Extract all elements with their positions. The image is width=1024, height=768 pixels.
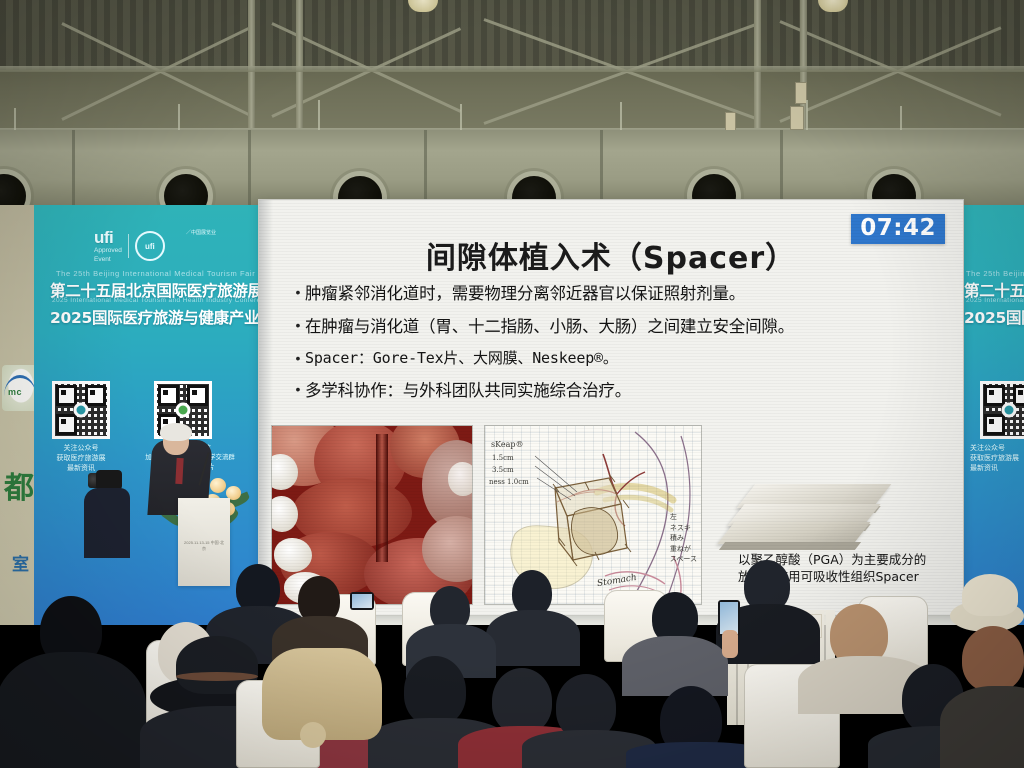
electrical-box (790, 106, 804, 130)
sketch-japanese-annotation: 左ネスキ積み重ねがスペース (670, 512, 697, 565)
qr-finder-icon (56, 414, 77, 435)
presenter-tie (175, 458, 183, 484)
ufi-logo-subtext-1: Approved (94, 247, 122, 254)
spacer-sheet (717, 522, 870, 544)
qr-finder-icon (158, 385, 179, 406)
qr-finder-icon (56, 385, 77, 406)
spacer-sheet-edge (719, 542, 861, 550)
bullet-marker-icon: • (291, 282, 305, 302)
podium: 2025.11.13-15 中国·北京 (178, 498, 230, 586)
sketch-label-dimension-1: 1.5cm (492, 454, 514, 462)
slide-figure-row: sKeap® 1.5cm 3.5cm ness 1.0cm 左ネスキ積み重ねがス… (272, 426, 950, 604)
bullet-text: 多学科协作：与外科团队共同实施综合治疗。 (305, 379, 631, 403)
qr-code-official-account[interactable] (52, 381, 110, 439)
attendee-hand (722, 630, 738, 658)
bullet-text: Spacer：Gore-Tex片、大网膜、Neskeep®。 (305, 348, 618, 370)
bullet-text: 在肿瘤与消化道（胃、十二指肠、小肠、大肠）之间建立安全间隙。 (305, 315, 794, 339)
association-seal-icon: ufi (135, 231, 165, 261)
left-banner-char-small: 室 (12, 550, 29, 575)
audience-head (404, 656, 466, 726)
slide-bullet-item: • 多学科协作：与外科团队共同实施综合治疗。 (291, 379, 935, 403)
ceiling-beam (0, 66, 1024, 72)
audience-shoulders (940, 686, 1024, 768)
seal-caption: ／中国展览业 (186, 229, 216, 236)
slide-title: 间隙体植入术（Spacer） (259, 233, 963, 277)
bullet-marker-icon: • (291, 379, 305, 399)
flower-bloom (210, 478, 226, 493)
video-camera (96, 470, 122, 490)
bullet-marker-icon: • (291, 348, 305, 368)
sketch-label-thickness: ness 1.0cm (489, 478, 529, 486)
qr-left-caption-line-1: 关注公众号 (38, 443, 124, 453)
qr-code-official-account[interactable] (980, 381, 1024, 439)
qr-finder-icon (984, 385, 1005, 406)
qr-center-logo-icon (176, 403, 191, 418)
conference-banner-right: The 25th Beijing International Medical T… (962, 205, 1024, 625)
slide-bullet-list: • 肿瘤紧邻消化道时，需要物理分离邻近器官以保证照射剂量。 • 在肿瘤与消化道（… (291, 282, 935, 412)
conference-photo: mc 都 室 ufi Approved Event ufi ／中国展览业 The… (0, 0, 1024, 768)
banner-english-line-2: 2025 International Medical Tourism and H… (52, 297, 248, 304)
coat-pompom (300, 722, 326, 748)
audience-shoulders (486, 610, 580, 666)
audience-hat (962, 574, 1018, 616)
banner-english-line-1: The 25th Beijing International Medical T… (56, 269, 246, 278)
ceiling-structure (0, 0, 1024, 212)
qr-finder-icon (984, 414, 1005, 435)
qr-center-logo-icon (74, 403, 89, 418)
sketch-label-dimension-2: 3.5cm (492, 466, 514, 474)
qr-left-caption: 关注公众号 获取医疗旅游展 最新资讯 (38, 443, 124, 473)
banner-english-line-1: The 25th Beijing International Medical T… (966, 269, 1024, 278)
ufi-logo-text: ufi (94, 229, 122, 246)
audience-shoulders (622, 636, 728, 696)
audience-head (962, 626, 1024, 692)
qr-left-caption-line-2: 获取医疗旅游展 (38, 453, 124, 463)
electrical-box (725, 112, 736, 131)
audience-head (492, 668, 552, 734)
gauze-swab (274, 538, 312, 572)
camera-operator (84, 488, 130, 558)
slide-bullet-item: • 在肿瘤与消化道（胃、十二指肠、小肠、大肠）之间建立安全间隙。 (291, 315, 935, 339)
qr-finder-icon (85, 385, 106, 406)
qr-left-caption-line-2: 获取医疗旅游展 (970, 453, 1024, 463)
gauze-swab (448, 462, 472, 496)
qr-left-caption: 关注公众号 获取医疗旅游展 最新资讯 (970, 443, 1024, 473)
bullet-text: 肿瘤紧邻消化道时，需要物理分离邻近器官以保证照射剂量。 (305, 282, 745, 306)
banner-english-line-2: 2025 International Medical Tourism and H… (966, 297, 1024, 304)
presentation-screen: 07:42 间隙体植入术（Spacer） • 肿瘤紧邻消化道时，需要物理分离邻近… (259, 200, 963, 615)
podium-label: 2025.11.13-15 中国·北京 (184, 540, 224, 552)
slide-bullet-item: • Spacer：Gore-Tex片、大网膜、Neskeep®。 (291, 348, 935, 370)
qr-left-caption-line-1: 关注公众号 (970, 443, 1024, 453)
bullet-marker-icon: • (291, 315, 305, 335)
exhibitor-logo-text: mc (8, 387, 22, 397)
slide-bullet-item: • 肿瘤紧邻消化道时，需要物理分离邻近器官以保证照射剂量。 (291, 282, 935, 306)
surgical-cleft (376, 434, 388, 562)
qr-center-logo-icon (1002, 403, 1017, 418)
qr-finder-icon (1013, 385, 1024, 406)
audience-shoulders (0, 652, 146, 768)
qr-finder-icon (187, 385, 208, 406)
qr-left-caption-line-3: 最新资讯 (970, 463, 1024, 473)
sketch-label-product: sKeap® (491, 440, 524, 449)
banner-chinese-line-2: 2025国际医疗旅游与健康产业大会 (50, 306, 250, 328)
intraoperative-surgical-photo (272, 426, 472, 604)
presenter-hair (160, 423, 192, 441)
attendee-phone[interactable] (350, 592, 374, 610)
logo-divider (128, 234, 129, 258)
left-banner-char-large: 都 (4, 463, 34, 507)
banner-chinese-line-2: 2025国际医疗旅游与健康产业大会 (964, 306, 1024, 328)
ufi-logo-subtext-2: Event (94, 256, 122, 263)
